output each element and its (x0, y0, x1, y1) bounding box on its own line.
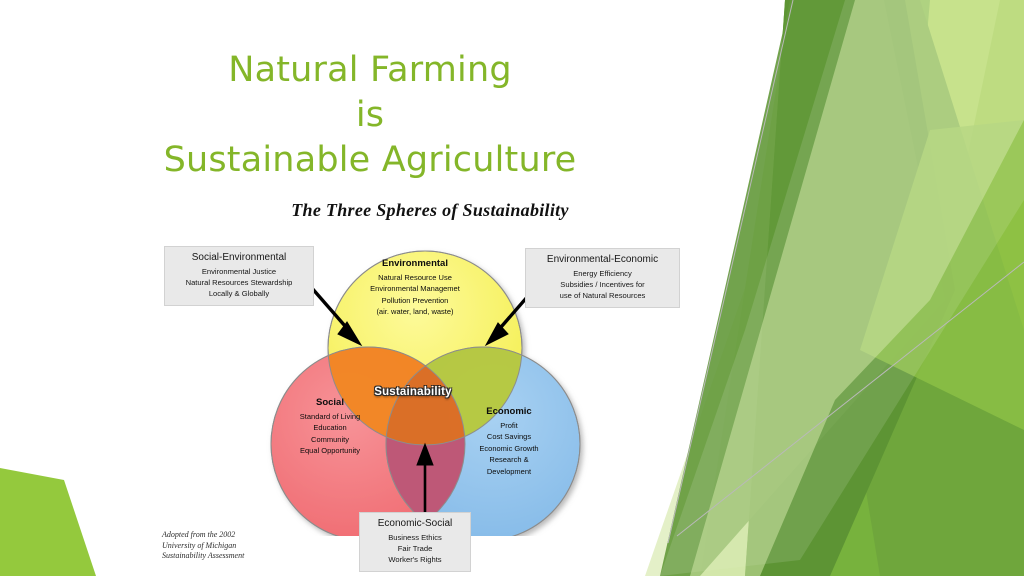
attribution-note: Adopted from the 2002 University of Mich… (162, 530, 292, 562)
callout-item: Subsidies / Incentives for (560, 280, 644, 289)
callout-social-environmental: Social-Environmental Environmental Justi… (164, 246, 314, 306)
callout-item: Natural Resources Stewardship (186, 278, 293, 287)
decor-shape-pale-3 (690, 0, 1024, 576)
callout-environmental-economic: Environmental-Economic Energy Efficiency… (525, 248, 680, 308)
callout-item: Locally & Globally (209, 289, 269, 298)
callout-item: use of Natural Resources (560, 291, 646, 300)
decor-shape-pale-2 (700, 0, 1024, 576)
callout-item: Fair Trade (398, 544, 433, 553)
attribution-line: Sustainability Assessment (162, 551, 292, 562)
decor-shape-mid-1 (745, 0, 930, 576)
callout-head: Economic-Social (365, 517, 465, 531)
sustainability-diagram: The Three Spheres of Sustainability (150, 196, 695, 576)
diagram-heading: The Three Spheres of Sustainability (245, 200, 615, 221)
callout-item: Environmental Justice (202, 267, 276, 276)
decor-shape-light-overlay (660, 0, 1024, 576)
decor-shape-bright-2 (880, 0, 1024, 576)
decor-shape-pale-1 (645, 0, 1024, 576)
decor-shape-dark-1 (785, 0, 1024, 576)
decor-shape-deep-2 (660, 0, 945, 576)
attribution-line: University of Michigan (162, 541, 292, 552)
decor-shape-bright-1 (766, 0, 1024, 576)
attribution-line: Adopted from the 2002 (162, 530, 292, 541)
title-line-2: is (70, 93, 670, 138)
title-line-1: Natural Farming (70, 48, 670, 93)
callout-item: Business Ethics (388, 533, 442, 542)
page-title: Natural Farming is Sustainable Agricultu… (70, 48, 670, 183)
callout-item: Energy Efficiency (573, 269, 632, 278)
decor-shape-dark-2 (860, 120, 1024, 430)
slide-canvas: Natural Farming is Sustainable Agricultu… (0, 0, 1024, 576)
callout-economic-social: Economic-Social Business Ethics Fair Tra… (359, 512, 471, 572)
callout-head: Environmental-Economic (531, 253, 674, 267)
decor-hairline-2 (677, 262, 1024, 536)
callout-item: Worker's Rights (388, 555, 441, 564)
callout-head: Social-Environmental (170, 251, 308, 265)
title-line-3: Sustainable Agriculture (70, 138, 670, 183)
decor-shape-deep-1 (745, 0, 955, 576)
decor-shape-bottom-left (0, 468, 96, 576)
